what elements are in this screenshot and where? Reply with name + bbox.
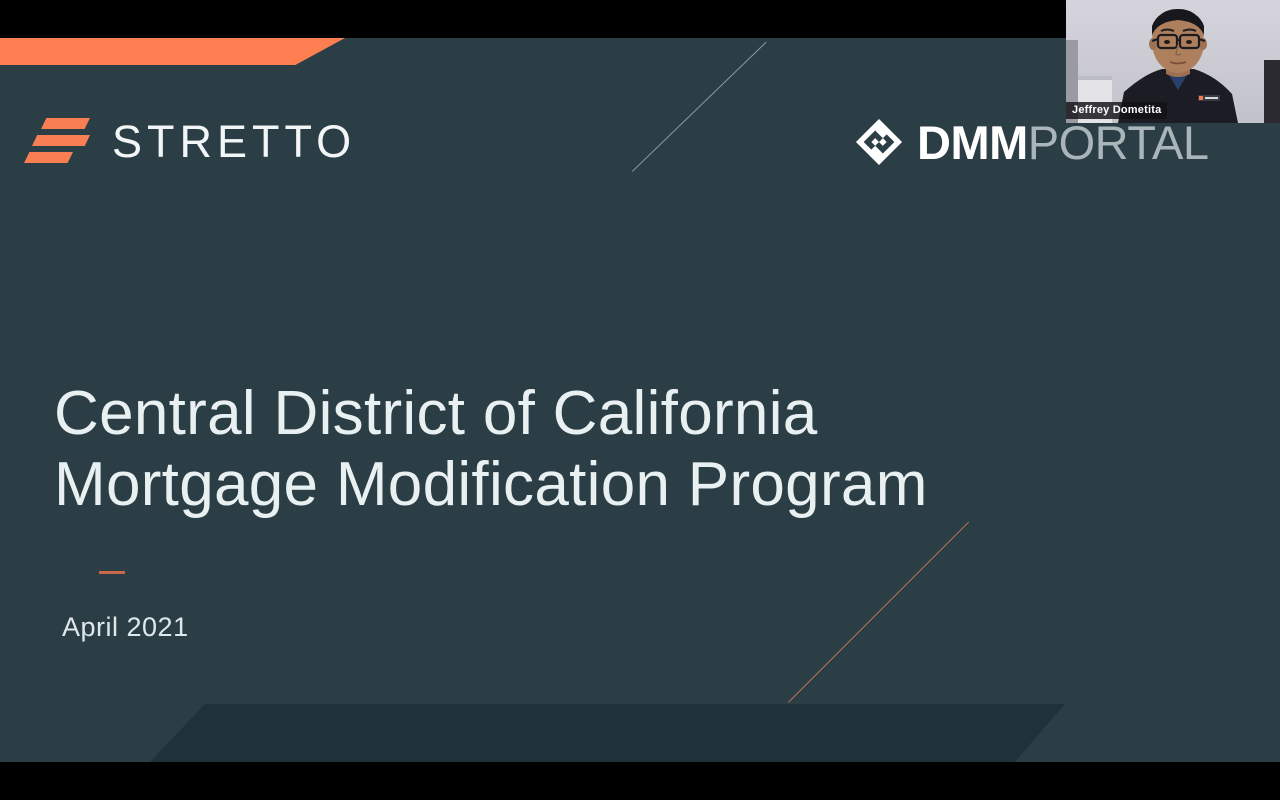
stretto-wordmark: STRETTO <box>112 119 356 164</box>
slide-title-line-2: Mortgage Modification Program <box>54 449 1054 520</box>
webcam-tile[interactable]: Jeffrey Dometita <box>1066 0 1280 123</box>
slide-date: April 2021 <box>62 612 189 643</box>
dmm-portal-logo: DMMPORTAL <box>855 118 1208 166</box>
letterbox-bottom <box>0 762 1280 800</box>
slide-title-line-1: Central District of California <box>54 378 1054 449</box>
dmm-wordmark-primary: DMM <box>917 116 1028 169</box>
screen-share-view: STRETTO DMMPORTAL Central District of Ca… <box>0 0 1280 800</box>
slide-title: Central District of California Mortgage … <box>54 378 1054 521</box>
title-divider-rule <box>99 571 125 574</box>
decorative-diagonal-line-light <box>632 42 766 172</box>
dmm-portal-wordmark: DMMPORTAL <box>917 119 1208 166</box>
stretto-mark-bar-middle <box>32 135 90 146</box>
stretto-logo-mark-icon <box>24 118 90 164</box>
webcam-participant-name: Jeffrey Dometita <box>1066 102 1167 119</box>
orange-accent-bar <box>0 38 345 65</box>
stretto-logo: STRETTO <box>24 118 356 164</box>
dmm-diamond-icon <box>855 118 903 166</box>
presentation-slide: STRETTO DMMPORTAL Central District of Ca… <box>0 38 1280 762</box>
dmm-wordmark-secondary: PORTAL <box>1028 116 1209 169</box>
bottom-accent-parallelogram <box>150 704 1065 762</box>
decorative-diagonal-line-orange <box>788 522 969 703</box>
stretto-mark-bar-top <box>41 118 90 129</box>
stretto-mark-bar-bottom <box>24 152 73 163</box>
